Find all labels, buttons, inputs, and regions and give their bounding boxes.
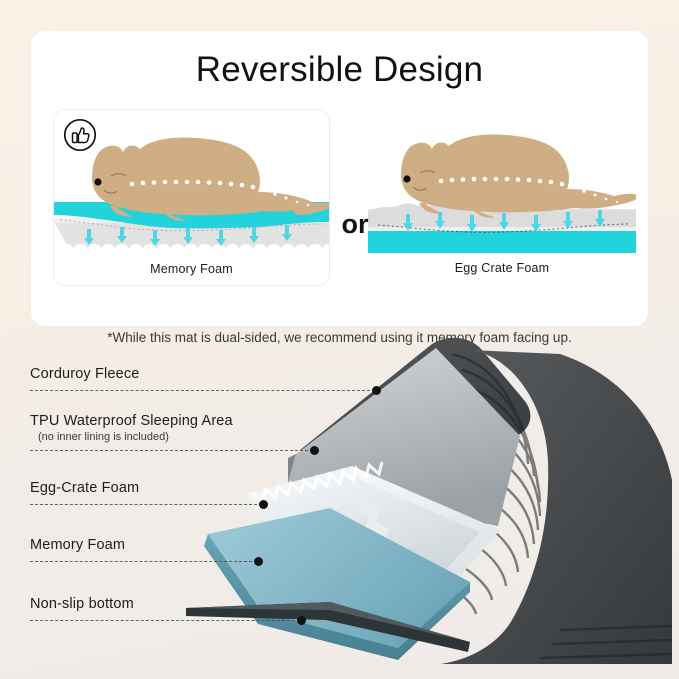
egg-crate-foam-diagram — [368, 109, 636, 284]
or-divider-label: or — [335, 211, 375, 238]
callout-tpu-waterproof: TPU Waterproof Sleeping Area (no inner l… — [30, 412, 233, 444]
leader-line-corduroy-fleece — [30, 390, 375, 391]
thumbs-up-icon — [63, 118, 97, 152]
leader-dot-memory-foam — [254, 557, 263, 566]
callout-memory-foam: Memory Foam — [30, 536, 125, 554]
leader-dot-egg-crate-foam — [259, 500, 268, 509]
callout-label: TPU Waterproof Sleeping Area — [30, 412, 233, 430]
dog-illustration — [92, 137, 329, 220]
reversible-design-card: Reversible Design — [31, 31, 648, 326]
callout-egg-crate-foam: Egg-Crate Foam — [30, 479, 139, 497]
panel-caption-egg-crate-foam: Egg Crate Foam — [368, 261, 636, 275]
page-title: Reversible Design — [31, 50, 648, 90]
leader-line-non-slip-bottom — [30, 620, 300, 621]
dog-illustration — [401, 134, 636, 217]
leader-dot-corduroy-fleece — [372, 386, 381, 395]
callout-label: Corduroy Fleece — [30, 365, 139, 383]
leader-line-egg-crate-foam — [30, 504, 262, 505]
leader-line-tpu-waterproof — [30, 450, 313, 451]
callout-corduroy-fleece: Corduroy Fleece — [30, 365, 139, 383]
panel-memory-foam: Memory Foam — [53, 109, 330, 286]
callout-label: Egg-Crate Foam — [30, 479, 139, 497]
memory-foam-layer — [368, 231, 636, 253]
infographic-page: Reversible Design — [0, 0, 679, 679]
panel-caption-memory-foam: Memory Foam — [54, 262, 329, 276]
leader-dot-tpu-waterproof — [310, 446, 319, 455]
callout-label: Non-slip bottom — [30, 595, 134, 613]
panel-egg-crate-foam: Egg Crate Foam — [368, 109, 636, 284]
callout-label: Memory Foam — [30, 536, 125, 554]
leader-dot-non-slip-bottom — [297, 616, 306, 625]
leader-line-memory-foam — [30, 561, 257, 562]
callout-non-slip-bottom: Non-slip bottom — [30, 595, 134, 613]
callout-sublabel: (no inner lining is included) — [38, 430, 233, 444]
